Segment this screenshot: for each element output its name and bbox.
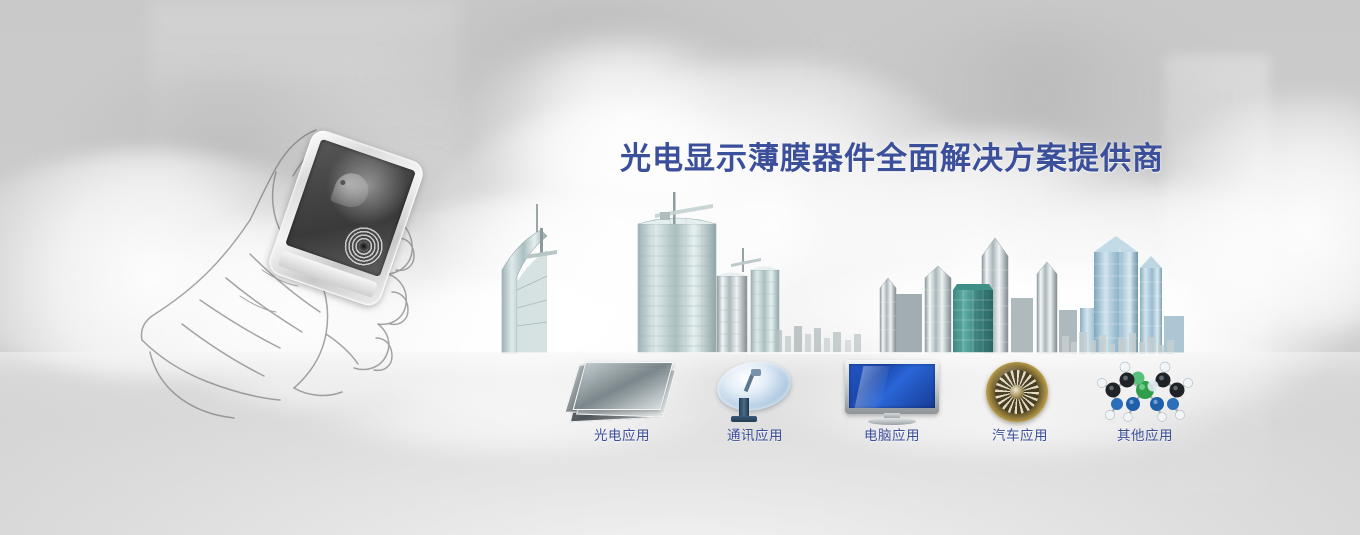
sail-tower: [502, 204, 557, 353]
alloy-wheel-icon: [960, 358, 1080, 424]
application-item-computer[interactable]: 电脑应用: [832, 358, 952, 444]
application-item-automotive[interactable]: 汽车应用: [960, 358, 1080, 444]
satellite-dish-icon: [695, 358, 815, 424]
application-label: 其他应用: [1085, 424, 1205, 444]
hero-banner: 光电显示薄膜器件全面解决方案提供商 光电应用 通讯应用: [0, 0, 1360, 535]
molecule-icon: [1085, 358, 1205, 424]
glass-film-panels-icon: [562, 358, 682, 424]
wheel-hub: [1010, 385, 1024, 399]
distant-lowrise-cluster: [775, 326, 861, 353]
monitor-frame: [845, 360, 939, 414]
application-item-communication[interactable]: 通讯应用: [695, 358, 815, 444]
lcd-monitor-icon: [832, 358, 952, 424]
monitor-stand: [868, 418, 916, 425]
phone-screen-glyph-icon: [330, 169, 373, 212]
dish-reflector: [714, 357, 795, 416]
far-lowrise-cluster: [1060, 322, 1180, 354]
mid-towers-pair: [717, 248, 779, 353]
application-icons-row: 光电应用 通讯应用 电脑应用: [560, 358, 1200, 458]
page-title: 光电显示薄膜器件全面解决方案提供商: [620, 140, 1164, 178]
application-label: 汽车应用: [960, 424, 1080, 444]
dish-base: [731, 416, 757, 422]
main-tower: [638, 192, 716, 353]
application-label: 通讯应用: [695, 424, 815, 444]
molecule-model: [1095, 360, 1195, 422]
wheel-rim: [986, 362, 1048, 422]
monitor-screen: [849, 364, 935, 408]
touch-ripple-icon: [338, 221, 389, 272]
dish-lnb: [751, 369, 761, 376]
teal-buildings: [953, 284, 993, 353]
application-item-optoelectronic[interactable]: 光电应用: [562, 358, 682, 444]
application-item-other[interactable]: 其他应用: [1085, 358, 1205, 444]
monitor-screen-glare: [855, 366, 890, 408]
application-label: 光电应用: [562, 424, 682, 444]
horizon-line: [420, 352, 1200, 354]
film-panel-front: [573, 362, 674, 410]
application-label: 电脑应用: [832, 424, 952, 444]
